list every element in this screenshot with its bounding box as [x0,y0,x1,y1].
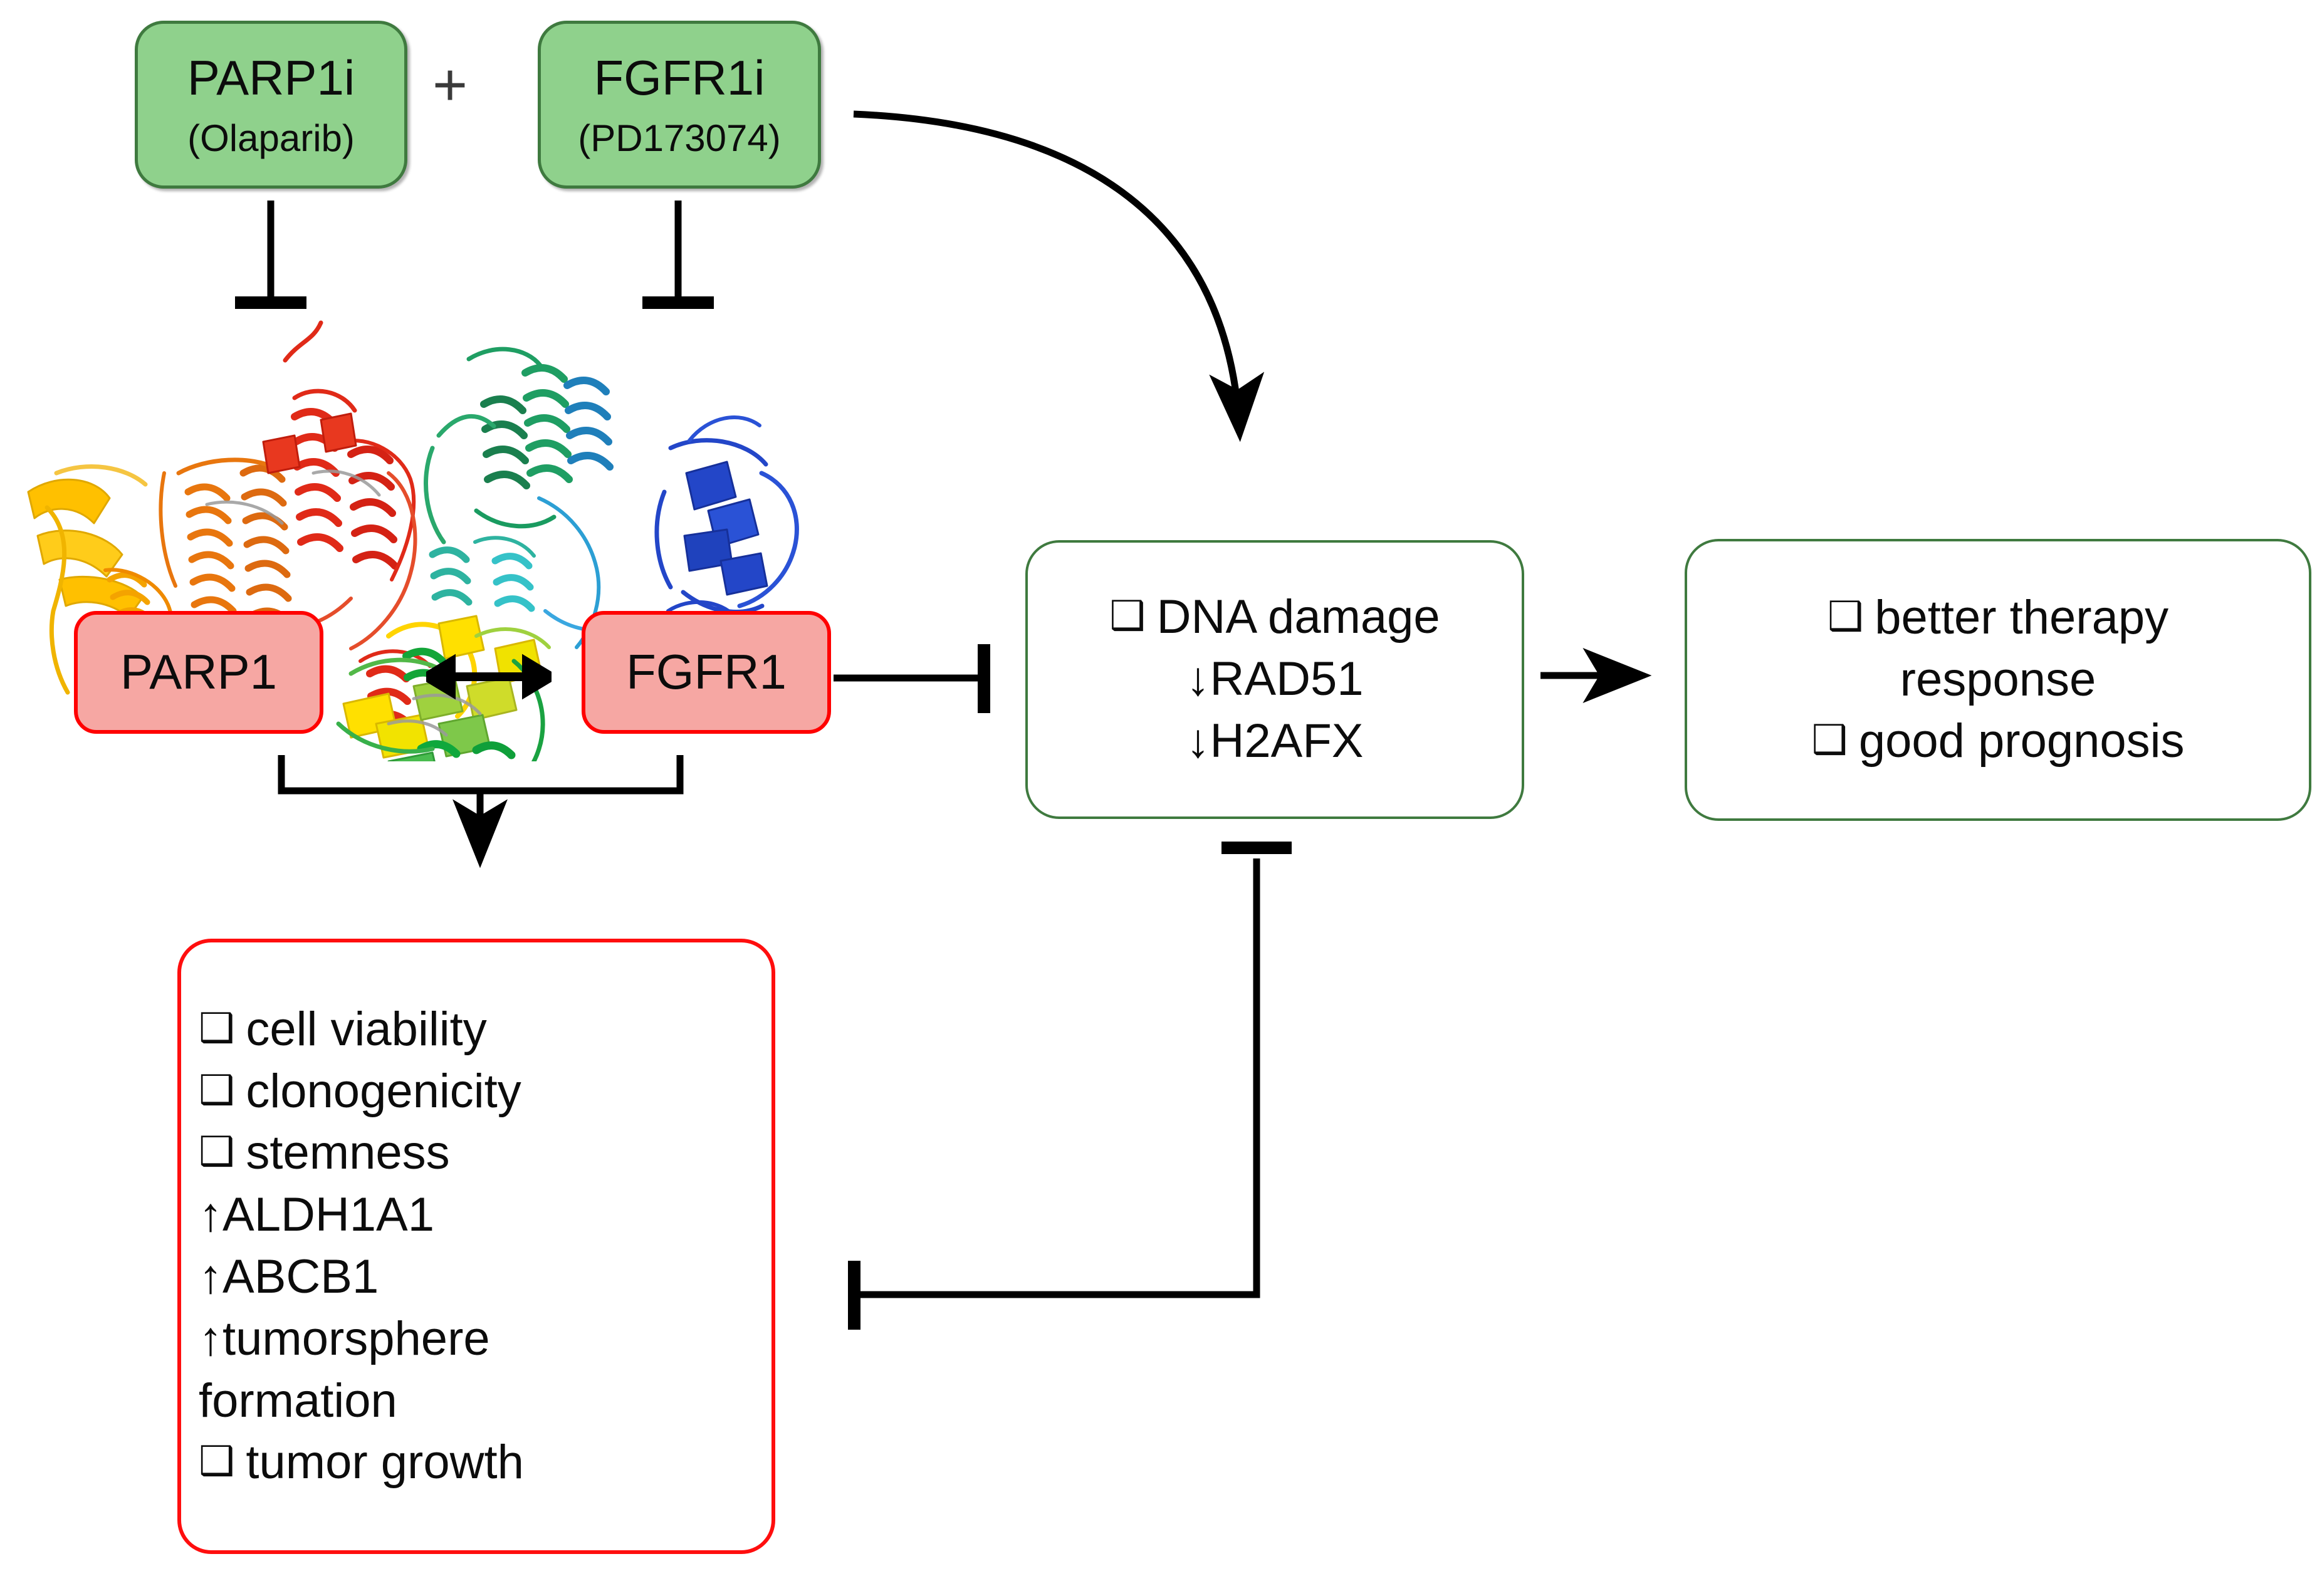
phenotype-line-7: formation [199,1370,524,1432]
drug-box-fgfr1i[interactable]: FGFR1i (PD173074) [538,21,821,189]
checkbox-icon: ❑ [1109,590,1145,642]
connector-dna-damage-inhibits-phenotype [854,848,1292,1330]
phenotype-line-8: ❑tumor growth [199,1432,524,1494]
phenotype-text-8: tumor growth [246,1436,524,1489]
outcome-line-2: response [1900,649,2096,711]
fgfr1-label: FGFR1 [626,645,787,699]
phenotype-text-3: stemness [246,1126,449,1179]
phenotype-line-6: ↑tumorsphere [199,1308,524,1370]
checkbox-icon: ❑ [199,1126,234,1178]
protein-box-fgfr1[interactable]: FGFR1 [582,611,831,734]
outcome-box-therapy: ❑better therapy response ❑good prognosis [1685,539,2311,821]
parp1-label: PARP1 [120,645,277,699]
outcome-line-1: ❑better therapy [1828,587,2168,649]
checkbox-icon: ❑ [1811,714,1847,766]
dna-damage-line-1: ❑DNA damage [1109,587,1440,649]
connector-drugs-to-dna-damage [854,114,1240,432]
checkbox-icon: ❑ [1828,591,1863,643]
dna-damage-text-1: DNA damage [1157,590,1440,644]
plus-operator: + [432,55,468,115]
outcome-line-3: ❑good prognosis [1811,711,2184,773]
phenotype-line-1: ❑cell viability [199,999,524,1061]
parp1i-name: PARP1i [187,49,355,107]
connector-fgfr1-inhibits-dna-damage [834,644,984,713]
diagram-canvas: PARP1i (Olaparib) + FGFR1i (PD173074) PA… [0,0,2317,1596]
phenotype-text-2: clonogenicity [246,1065,521,1118]
phenotype-line-4: ↑ALDH1A1 [199,1184,524,1246]
dna-damage-line-3: ↓H2AFX [1186,711,1364,773]
fgfr1i-name: FGFR1i [594,49,765,107]
phenotype-line-2: ❑clonogenicity [199,1061,524,1123]
checkbox-icon: ❑ [199,1003,234,1055]
phenotype-box: ❑cell viability ❑clonogenicity ❑stemness… [177,939,775,1554]
checkbox-icon: ❑ [199,1065,234,1117]
double-headed-arrow-icon [426,652,552,702]
connector-proteins-to-phenotype [281,755,680,858]
fgfr1i-compound: (PD173074) [578,117,781,161]
outcome-text-1: better therapy [1875,591,2168,644]
dna-damage-line-2: ↓RAD51 [1186,649,1364,711]
phenotype-list: ❑cell viability ❑clonogenicity ❑stemness… [181,999,524,1494]
phenotype-line-5: ↑ABCB1 [199,1246,524,1308]
outcome-text-3: good prognosis [1859,714,2185,768]
dna-damage-box: ❑DNA damage ↓RAD51 ↓H2AFX [1025,540,1524,819]
drug-box-parp1i[interactable]: PARP1i (Olaparib) [135,21,407,189]
checkbox-icon: ❑ [199,1436,234,1488]
parp1i-compound: (Olaparib) [187,117,355,161]
protein-box-parp1[interactable]: PARP1 [74,611,323,734]
phenotype-line-3: ❑stemness [199,1122,524,1184]
phenotype-text-1: cell viability [246,1003,486,1056]
